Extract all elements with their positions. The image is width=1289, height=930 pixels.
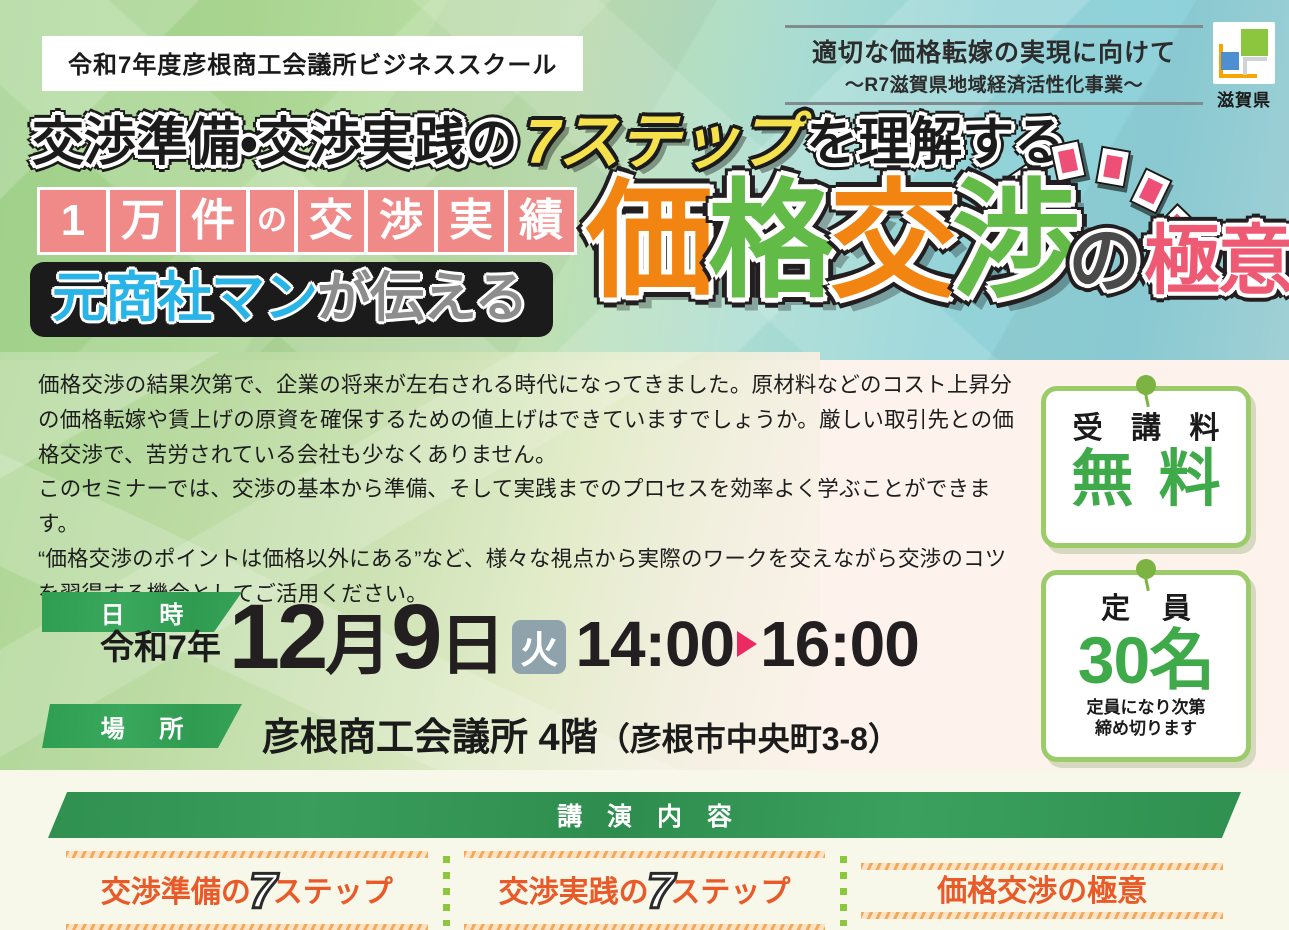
dash-rule-bottom [66, 924, 428, 930]
column-seven: 7 [249, 863, 275, 919]
prefecture-logo-block: 滋賀県 [1213, 22, 1275, 111]
fee-label: 受 講 料 [1046, 403, 1246, 447]
content-column: 交渉実践の7ステップ [446, 852, 844, 930]
title-box-char: 件 [180, 190, 246, 252]
title-box-char: の [250, 190, 294, 252]
content-column: 価格交渉の極意 [843, 852, 1241, 930]
column-divider [840, 856, 847, 926]
dash-rule-top [464, 851, 826, 858]
date-row: 令和7年 12 月 9 日 火 14:00 16:00 [100, 596, 919, 679]
title-line1-suffix: を理解する [806, 117, 1066, 169]
hero-gokui: 極意 [1144, 224, 1289, 300]
contents-banner-label: 講 演 内 容 [548, 797, 741, 833]
start-time: 14:00 [575, 612, 734, 679]
hero-title: 価 格 交 渉 の 極意 [586, 178, 1289, 306]
pin-icon [1136, 375, 1156, 395]
title-box-char: 交 [298, 190, 364, 252]
content-column: 交渉準備の7ステップ [48, 852, 446, 930]
content-column-inner: 交渉実践の7ステップ [464, 851, 826, 930]
title-box-char: 渉 [368, 190, 434, 252]
hero-char-2: 格 [708, 178, 830, 306]
capacity-value: 30名 [1046, 627, 1246, 693]
title-line-2-boxes: 1 万 件 の 交 渉 実 績 [40, 190, 574, 252]
dash-rule-top [66, 851, 428, 858]
program-subtitle: ～R7滋賀県地域経済活性化事業～ [845, 70, 1143, 102]
title-line3-gray: が伝える [317, 271, 527, 325]
fee-box: 受 講 料 無 料 [1041, 386, 1251, 548]
month-kanji: 月 [325, 614, 391, 679]
fee-value: 無 料 [1046, 447, 1246, 512]
title-line1-prefix: 交渉準備・交渉実践の [32, 117, 518, 169]
dash-rule-top [861, 863, 1223, 870]
venue-ribbon-label: 場 所 [87, 709, 198, 744]
pin-icon [1136, 559, 1156, 579]
dash-rule-bottom [861, 912, 1223, 919]
prefecture-program-block: 適切な価格転嫁の実現に向けて ～R7滋賀県地域経済活性化事業～ 滋賀県 [785, 22, 1275, 111]
venue-address: （彦根市中央町3-8） [598, 721, 900, 757]
time-arrow-icon [737, 631, 757, 657]
capacity-box: 定 員 30名 定員になり次第 締め切ります [1041, 570, 1251, 762]
venue-name: 彦根商工会議所 4階 [262, 717, 598, 759]
venue-ribbon: 場 所 [42, 704, 242, 748]
end-time: 16:00 [760, 612, 919, 679]
era-label: 令和7年 [100, 620, 229, 679]
logo-gray-step [1243, 57, 1267, 75]
content-column-title: 交渉実践の7ステップ [499, 876, 791, 909]
hero-char-3: 交 [830, 178, 952, 306]
rule-bottom [785, 102, 1203, 105]
capacity-number: 30 [1078, 623, 1149, 697]
column-prefix: 価格交渉の極意 [937, 875, 1147, 908]
column-suffix: ステップ [670, 876, 790, 909]
title-line-1: 交渉準備・交渉実践の 7ステップ を理解する [32, 112, 1066, 174]
title-box-char: 万 [110, 190, 176, 252]
title-line-3-banner: 元商社マン が伝える [30, 262, 553, 337]
column-prefix: 交渉実践の [499, 876, 649, 909]
contents-columns: 交渉準備の7ステップ 交渉実践の7ステップ 価格交渉の極意 [48, 852, 1241, 930]
body-paragraph-2: このセミナーでは、交渉の基本から準備、そして実践までのプロセスを効率よく学ぶこと… [38, 472, 1028, 542]
title-box-char: 実 [438, 190, 504, 252]
column-divider [443, 856, 450, 926]
prefecture-name: 滋賀県 [1217, 86, 1271, 111]
program-title: 適切な価格転嫁の実現に向けて [812, 28, 1176, 70]
logo-blue-square [1221, 52, 1239, 70]
day-number: 9 [391, 596, 439, 679]
content-column-inner: 交渉準備の7ステップ [66, 851, 428, 930]
content-column-title: 交渉準備の7ステップ [101, 876, 393, 909]
title-box-char: 1 [40, 190, 106, 252]
content-column-inner: 価格交渉の極意 [861, 863, 1223, 920]
column-seven: 7 [647, 863, 673, 919]
capacity-unit: 名 [1149, 623, 1214, 697]
venue-row: 彦根商工会議所 4階（彦根市中央町3-8） [262, 706, 900, 761]
capacity-note-line2: 締め切ります [1046, 718, 1246, 739]
title-line3-cyan: 元商社マン [52, 271, 317, 325]
capacity-note: 定員になり次第 締め切ります [1046, 693, 1246, 740]
contents-banner: 講 演 内 容 [48, 792, 1241, 838]
flyer-page: 令和7年度彦根商工会議所ビジネススクール 適切な価格転嫁の実現に向けて ～R7滋… [0, 0, 1289, 930]
hero-char-4: 渉 [952, 178, 1074, 306]
day-kanji: 日 [439, 614, 505, 679]
dash-rule-bottom [464, 924, 826, 930]
program-title-block: 適切な価格転嫁の実現に向けて ～R7滋賀県地域経済活性化事業～ [785, 22, 1203, 105]
school-tag: 令和7年度彦根商工会議所ビジネススクール [42, 36, 583, 91]
column-prefix: 交渉準備の [101, 876, 251, 909]
title-line1-seven-steps: 7ステップ [520, 112, 804, 174]
shiga-prefecture-logo-icon [1213, 22, 1275, 84]
content-column-title: 価格交渉の極意 [937, 875, 1147, 908]
hero-particle-no: の [1068, 224, 1142, 298]
capacity-note-line1: 定員になり次第 [1046, 697, 1246, 718]
column-suffix: ステップ [273, 876, 393, 909]
title-box-char: 績 [508, 190, 574, 252]
hero-char-1: 価 [586, 178, 708, 306]
weekday-chip: 火 [512, 620, 566, 674]
body-paragraph-1: 価格交渉の結果次第で、企業の将来が左右される時代になってきました。原材料などのコ… [38, 368, 1028, 472]
month-number: 12 [229, 596, 325, 679]
body-copy: 価格交渉の結果次第で、企業の将来が左右される時代になってきました。原材料などのコ… [38, 368, 1028, 612]
